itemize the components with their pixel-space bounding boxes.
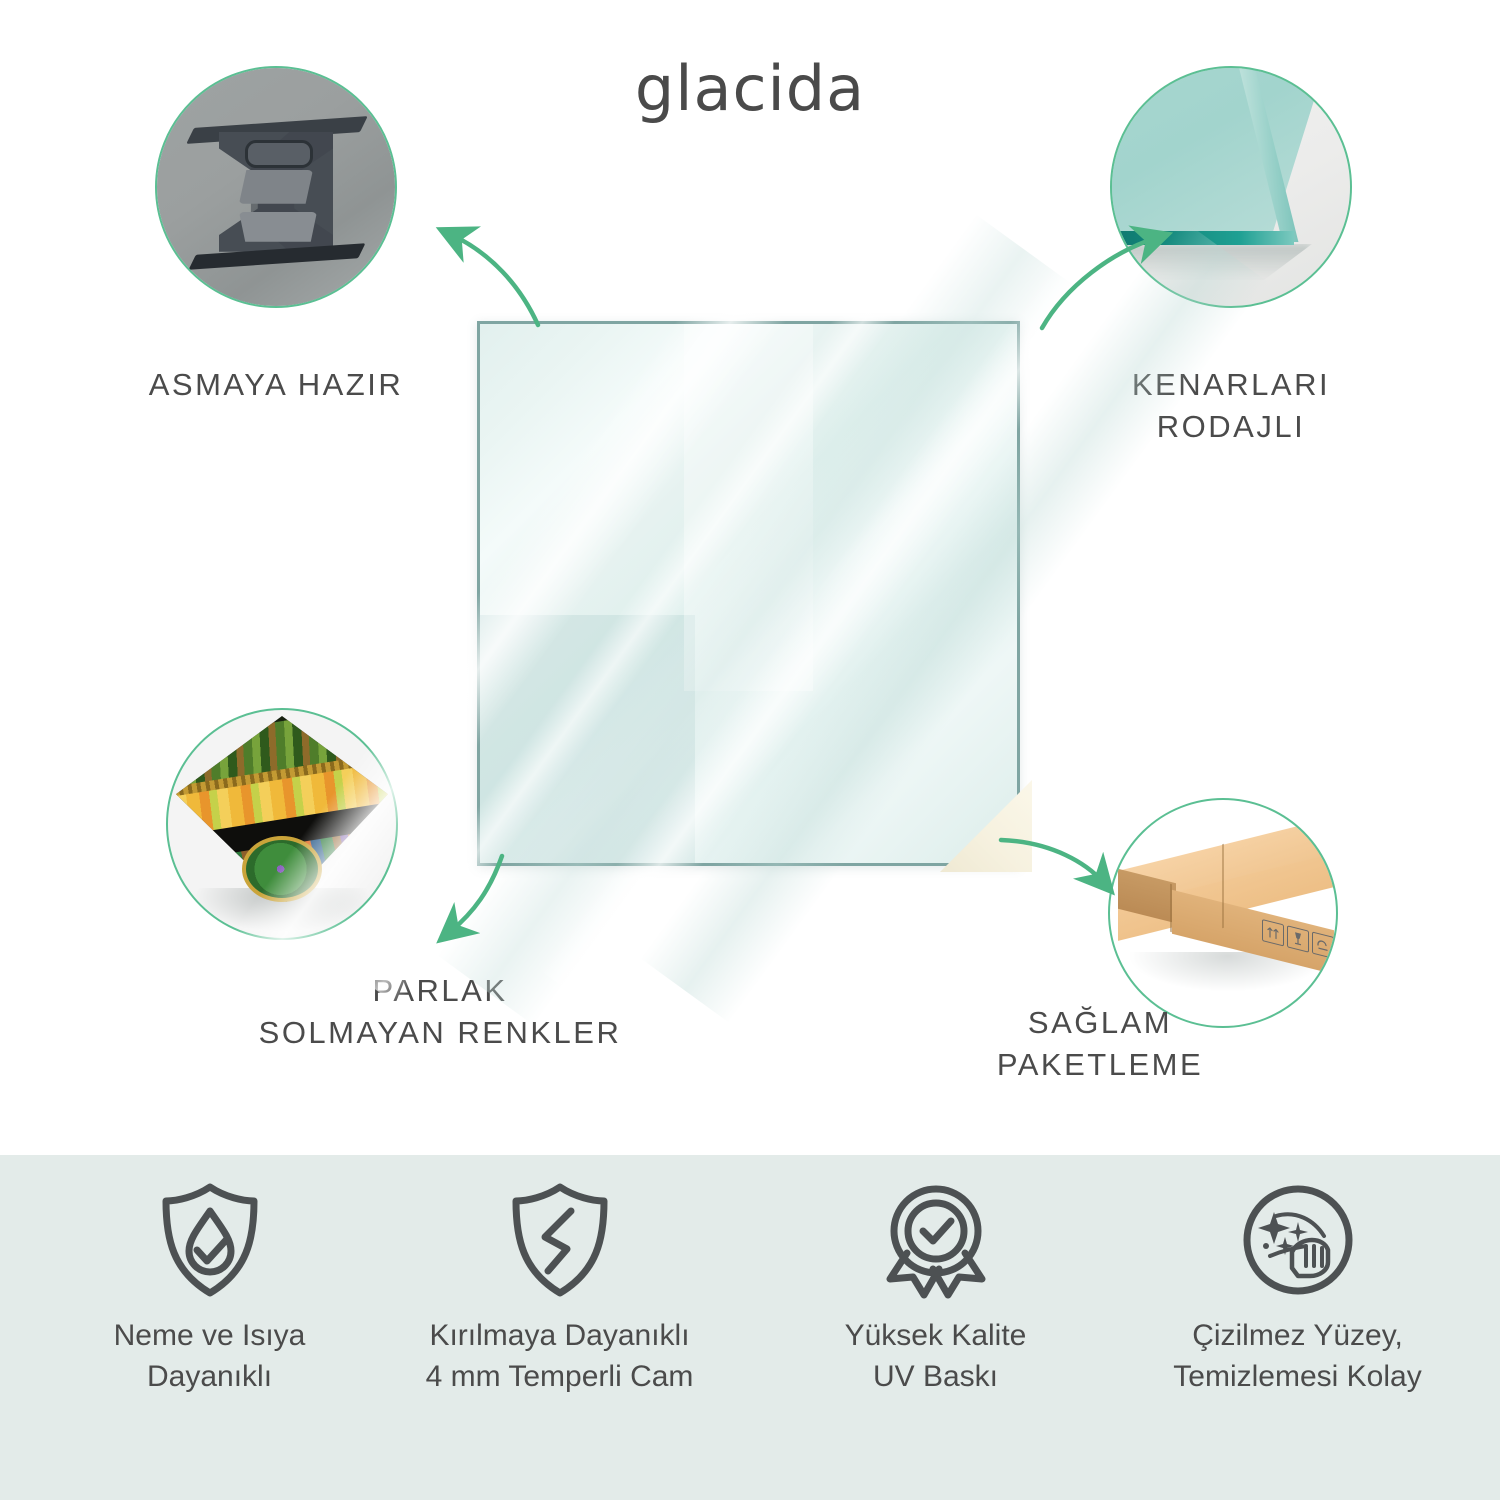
benefit-label: Kırılmaya Dayanıklı 4 mm Temperli Cam — [372, 1315, 747, 1398]
caption-line: PAKETLEME — [930, 1044, 1270, 1086]
caption-line: SAĞLAM — [930, 1002, 1270, 1044]
sparkle-hand-clean-icon — [1110, 1181, 1485, 1299]
benefit-line: 4 mm Temperli Cam — [372, 1356, 747, 1397]
arrow-to-polished-edges — [1020, 200, 1220, 365]
benefit-label: Neme ve Isıya Dayanıklı — [22, 1315, 397, 1398]
feature-image-ready-to-hang — [157, 68, 395, 306]
caption-line: SOLMAYAN RENKLER — [200, 1012, 680, 1054]
benefit-label: Yüksek Kalite UV Baskı — [748, 1315, 1123, 1398]
arrow-to-ready-to-hang — [420, 195, 620, 365]
benefit-line: Kırılmaya Dayanıklı — [372, 1315, 747, 1356]
benefit-line: Yüksek Kalite — [748, 1315, 1123, 1356]
benefit-high-quality-uv-print: Yüksek Kalite UV Baskı — [748, 1181, 1123, 1398]
benefit-line: Çizilmez Yüzey, — [1110, 1315, 1485, 1356]
benefit-scratch-free-easy-clean: Çizilmez Yüzey, Temizlemesi Kolay — [1110, 1181, 1485, 1398]
infographic-page: glacida ASMAYA HAZIR KENARLARI RODAJLI — [0, 0, 1500, 1500]
feature-caption-ready-to-hang: ASMAYA HAZIR — [96, 364, 456, 406]
caption-line: ASMAYA HAZIR — [96, 364, 456, 406]
arrow-to-vivid-colors — [420, 850, 600, 980]
benefits-bar: Neme ve Isıya Dayanıklı Kırılmaya Dayanı… — [0, 1155, 1500, 1500]
shield-droplet-check-icon — [22, 1181, 397, 1299]
award-medal-check-icon — [748, 1181, 1123, 1299]
benefit-line: Dayanıklı — [22, 1356, 397, 1397]
benefit-line: Temizlemesi Kolay — [1110, 1356, 1485, 1397]
tempered-glass-panel — [477, 321, 1020, 866]
feature-caption-strong-packaging: SAĞLAM PAKETLEME — [930, 1002, 1270, 1085]
benefit-label: Çizilmez Yüzey, Temizlemesi Kolay — [1110, 1315, 1485, 1398]
benefit-moisture-heat-resistant: Neme ve Isıya Dayanıklı — [22, 1181, 397, 1398]
benefit-line: UV Baskı — [748, 1356, 1123, 1397]
shield-bolt-icon — [372, 1181, 747, 1299]
benefit-line: Neme ve Isıya — [22, 1315, 397, 1356]
arrow-to-strong-packaging — [995, 830, 1175, 950]
benefit-shatter-resistant: Kırılmaya Dayanıklı 4 mm Temperli Cam — [372, 1181, 747, 1398]
hanging-bracket-icon — [201, 118, 351, 266]
